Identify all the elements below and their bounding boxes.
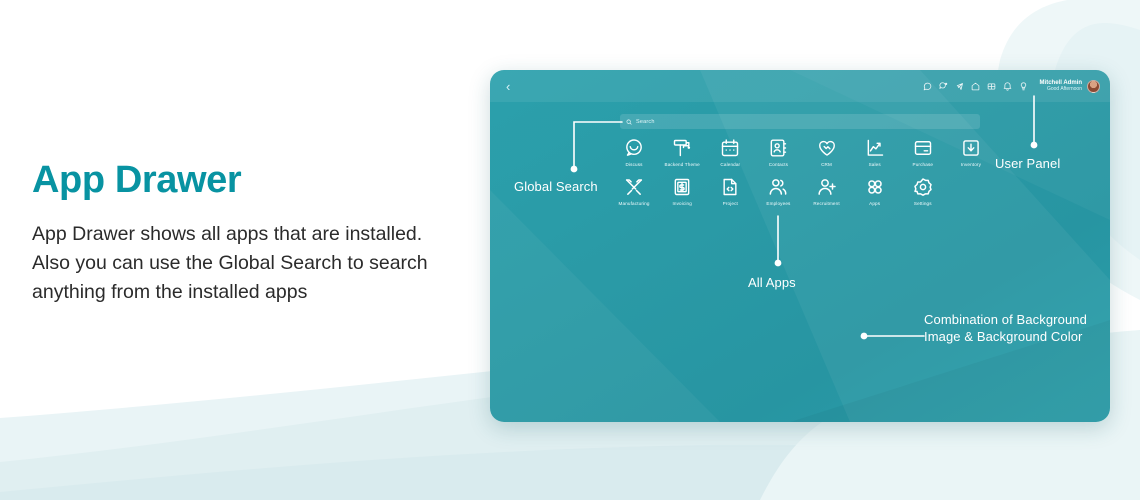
app-item-contacts[interactable]: Contacts xyxy=(754,138,802,167)
back-chevron-icon[interactable]: ‹ xyxy=(506,80,510,93)
conversations-icon[interactable] xyxy=(939,82,948,91)
app-label: Calendar xyxy=(720,162,740,167)
project-icon xyxy=(720,177,740,197)
app-item-crm[interactable]: CRM xyxy=(803,138,851,167)
recruitment-icon xyxy=(817,177,837,197)
crm-icon xyxy=(817,138,837,158)
marketing-copy: App Drawer App Drawer shows all apps tha… xyxy=(32,160,432,306)
annotation-user-panel: User Panel xyxy=(995,155,1060,172)
user-text: Mitchell Admin Good Afternoon xyxy=(1040,80,1082,93)
employees-icon xyxy=(768,177,788,197)
messages-icon[interactable] xyxy=(923,82,932,91)
search-input[interactable]: Search xyxy=(620,114,980,129)
grid-icon[interactable] xyxy=(987,82,996,91)
activity-icon[interactable] xyxy=(955,82,964,91)
annotation-all-apps: All Apps xyxy=(748,274,796,291)
app-drawer-panel: ‹ xyxy=(490,70,1110,422)
annotation-background: Combination of Background Image & Backgr… xyxy=(924,311,1114,345)
app-item-inventory[interactable]: Inventory xyxy=(947,138,995,167)
contacts-icon xyxy=(768,138,788,158)
manufacturing-icon xyxy=(624,177,644,197)
app-label: Apps xyxy=(869,201,880,206)
app-label: Manufacturing xyxy=(619,201,650,206)
app-label: Recruitment xyxy=(813,201,839,206)
app-label: Project xyxy=(723,201,738,206)
app-label: Purchase xyxy=(913,162,934,167)
purchase-icon xyxy=(913,138,933,158)
avatar[interactable] xyxy=(1087,80,1100,93)
app-item-purchase[interactable]: Purchase xyxy=(899,138,947,167)
app-item-recruitment[interactable]: Recruitment xyxy=(803,177,851,206)
app-item-backend-theme[interactable]: Backend Theme xyxy=(658,138,706,167)
app-label: Backend Theme xyxy=(665,162,700,167)
app-item-calendar[interactable]: Calendar xyxy=(706,138,754,167)
inventory-icon xyxy=(961,138,981,158)
backend-theme-icon xyxy=(672,138,692,158)
user-panel[interactable]: Mitchell Admin Good Afternoon xyxy=(1040,80,1100,93)
app-grid: Discuss Backend Theme Calendar xyxy=(610,138,995,206)
app-label: Employees xyxy=(766,201,790,206)
page-description: App Drawer shows all apps that are insta… xyxy=(32,220,432,307)
app-item-invoicing[interactable]: Invoicing xyxy=(658,177,706,206)
bell-icon[interactable] xyxy=(1003,82,1012,91)
wave-bottom-3 xyxy=(0,445,1140,500)
page-title: App Drawer xyxy=(32,160,432,202)
app-item-sales[interactable]: Sales xyxy=(851,138,899,167)
app-label: Invoicing xyxy=(672,201,691,206)
app-item-employees[interactable]: Employees xyxy=(754,177,802,206)
annotation-global-search: Global Search xyxy=(514,178,624,195)
discuss-icon xyxy=(624,138,644,158)
app-label: Discuss xyxy=(625,162,642,167)
app-label: Contacts xyxy=(769,162,788,167)
panel-topbar: ‹ xyxy=(490,70,1110,102)
topbar-icon-row: Mitchell Admin Good Afternoon xyxy=(923,80,1100,93)
app-item-discuss[interactable]: Discuss xyxy=(610,138,658,167)
home-icon[interactable] xyxy=(971,82,980,91)
settings-icon xyxy=(913,177,933,197)
invoicing-icon xyxy=(672,177,692,197)
calendar-icon xyxy=(720,138,740,158)
user-subtitle: Good Afternoon xyxy=(1040,87,1082,93)
apps-icon xyxy=(865,177,885,197)
app-label: Inventory xyxy=(961,162,981,167)
app-label: CRM xyxy=(821,162,832,167)
app-item-settings[interactable]: Settings xyxy=(899,177,947,206)
global-search[interactable]: Search xyxy=(620,114,980,129)
app-label: Settings xyxy=(914,201,932,206)
search-icon xyxy=(626,119,632,125)
app-label: Sales xyxy=(869,162,881,167)
app-item-project[interactable]: Project xyxy=(706,177,754,206)
app-item-apps[interactable]: Apps xyxy=(851,177,899,206)
bulb-icon[interactable] xyxy=(1019,82,1028,91)
sales-icon xyxy=(865,138,885,158)
search-placeholder: Search xyxy=(636,119,655,125)
